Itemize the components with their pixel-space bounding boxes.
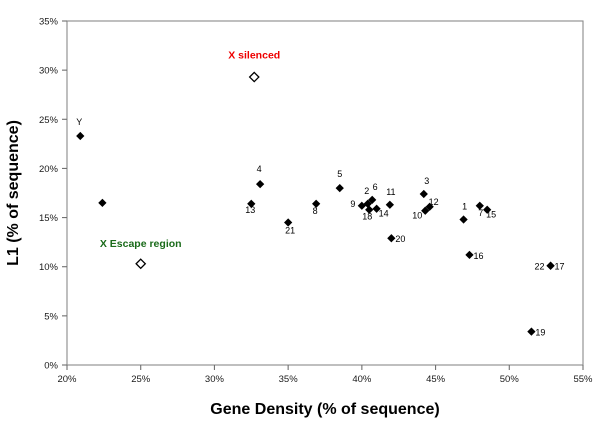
point-label: 10 [412,211,422,221]
figure-background [0,0,600,424]
point-label: 2 [364,186,369,196]
scatter-plot-figure: 20%25%30%35%40%45%50%55% 0%5%10%15%20%25… [0,0,600,424]
x-tick-label: 25% [131,374,151,385]
point-label: 4 [257,164,262,174]
point-label: 6 [373,182,378,192]
x-tick-label: 20% [57,374,77,385]
x-tick-label: 30% [205,374,225,385]
point-label: 17 [555,262,565,272]
x-tick-label: 50% [500,374,520,385]
point-label: 1 [462,202,467,212]
point-label: 22 [535,262,545,272]
y-tick-label: 15% [39,213,59,224]
point-label: 16 [473,251,483,261]
point-label: 11 [386,187,395,197]
chart-canvas: 20%25%30%35%40%45%50%55% 0%5%10%15%20%25… [0,0,600,424]
y-tick-label: 5% [44,311,58,322]
point-label: 5 [337,169,342,179]
point-label: 8 [313,206,318,216]
x-axis-title: Gene Density (% of sequence) [210,401,439,418]
point-label: 13 [245,205,255,215]
y-tick-label: 20% [39,164,59,175]
y-tick-label: 10% [39,262,59,273]
y-tick-label: 25% [39,115,59,126]
point-label: 7 [478,208,483,218]
point-label: 9 [350,199,355,209]
point-label: 21 [285,225,295,235]
point-label: 14 [379,209,389,219]
x-tick-label: 55% [573,374,593,385]
x-tick-label: 35% [279,374,299,385]
point-label: Y [76,117,82,127]
point-label: 15 [486,210,496,220]
point-label: 12 [429,197,439,207]
point-label: 20 [395,234,405,244]
y-tick-label: 35% [39,17,59,28]
x-escape-region-annotation: X Escape region [100,238,182,250]
x-tick-label: 40% [352,374,372,385]
y-tick-label: 0% [44,361,58,372]
y-tick-label: 30% [39,66,59,77]
y-axis-title: L1 (% of sequence) [5,120,22,266]
point-label: 3 [424,176,429,186]
point-label: 19 [535,328,545,338]
x-silenced-annotation: X silenced [228,49,280,61]
point-label: 18 [362,212,372,222]
x-tick-label: 45% [426,374,446,385]
